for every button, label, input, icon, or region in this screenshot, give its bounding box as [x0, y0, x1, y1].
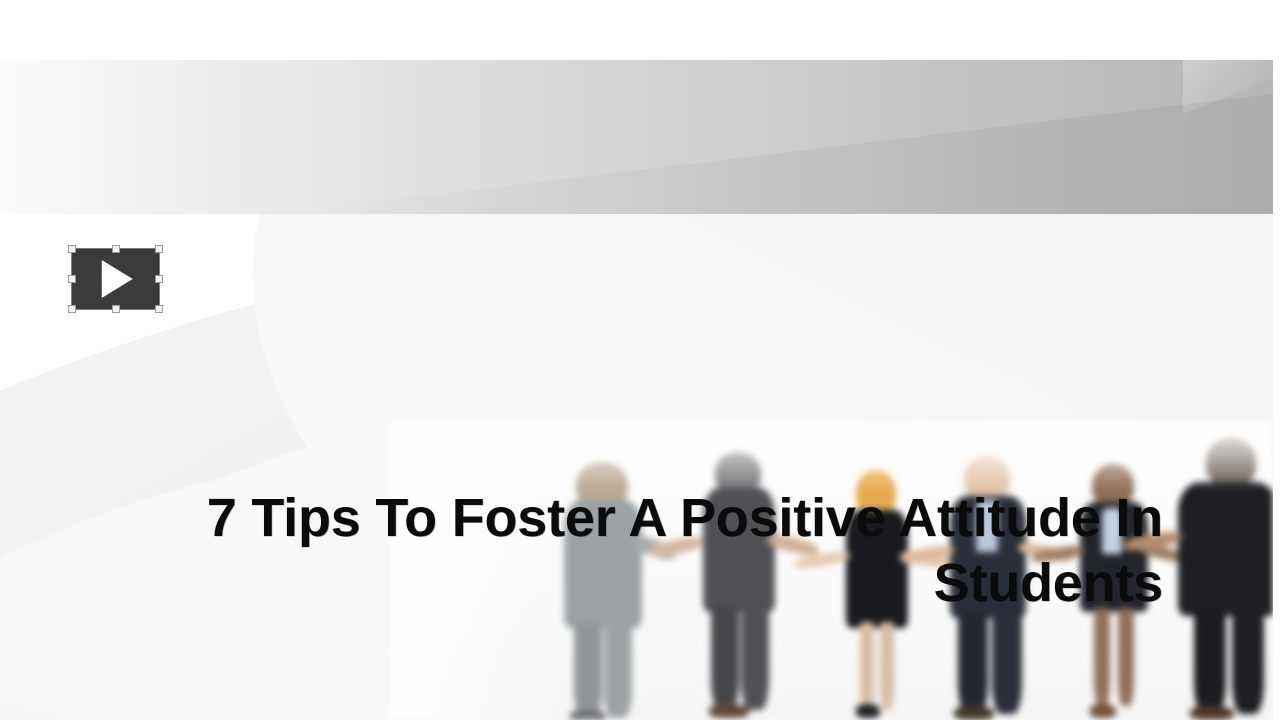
person-torso: [1178, 482, 1273, 616]
slide-root: 7 Tips To Foster A Positive Attitude In …: [0, 0, 1280, 720]
person-leg-left: [860, 622, 874, 710]
resize-handle-bottom-right[interactable]: [155, 305, 163, 313]
photo-top-fade: [390, 420, 1273, 490]
person-shoe: [570, 710, 606, 720]
resize-handle-top-right[interactable]: [155, 245, 163, 253]
person-leg-left: [574, 622, 602, 718]
resize-handle-top-center[interactable]: [112, 245, 120, 253]
slide-right-margin: [1273, 0, 1280, 720]
play-triangle-icon[interactable]: [101, 260, 132, 298]
person-leg-right: [1232, 610, 1264, 714]
slide-title: 7 Tips To Foster A Positive Attitude In …: [150, 486, 1163, 616]
resize-handle-top-left[interactable]: [68, 245, 76, 253]
person-shoe: [1190, 706, 1234, 720]
person-leg-right: [880, 622, 894, 710]
person-shoe: [954, 706, 994, 720]
resize-handle-middle-left[interactable]: [68, 275, 76, 283]
resize-handle-bottom-center[interactable]: [112, 305, 120, 313]
person-shoe: [856, 704, 880, 718]
person-shoe: [709, 704, 749, 718]
person-leg-left: [958, 612, 988, 714]
top-gradient-band: [0, 60, 1273, 214]
person-leg-right: [604, 622, 632, 718]
person-leg-left: [1094, 608, 1110, 706]
slide-canvas: 7 Tips To Foster A Positive Attitude In …: [0, 60, 1273, 720]
person-leg-left: [1194, 610, 1226, 714]
person-leg-right: [1118, 608, 1134, 706]
person-leg-right: [992, 612, 1022, 714]
title-line-1: 7 Tips To Foster A Positive Attitude In: [150, 486, 1163, 551]
person-shoe: [1090, 704, 1116, 718]
slide-body: 7 Tips To Foster A Positive Attitude In …: [0, 214, 1273, 720]
resize-handle-middle-right[interactable]: [155, 275, 163, 283]
band-wedge-shape: [273, 60, 1273, 214]
person-leg-left: [711, 606, 739, 710]
person-leg-right: [741, 606, 769, 710]
title-line-2: Students: [150, 551, 1163, 616]
video-thumbnail[interactable]: [72, 249, 159, 309]
video-placeholder[interactable]: [68, 245, 163, 313]
resize-handle-bottom-left[interactable]: [68, 305, 76, 313]
